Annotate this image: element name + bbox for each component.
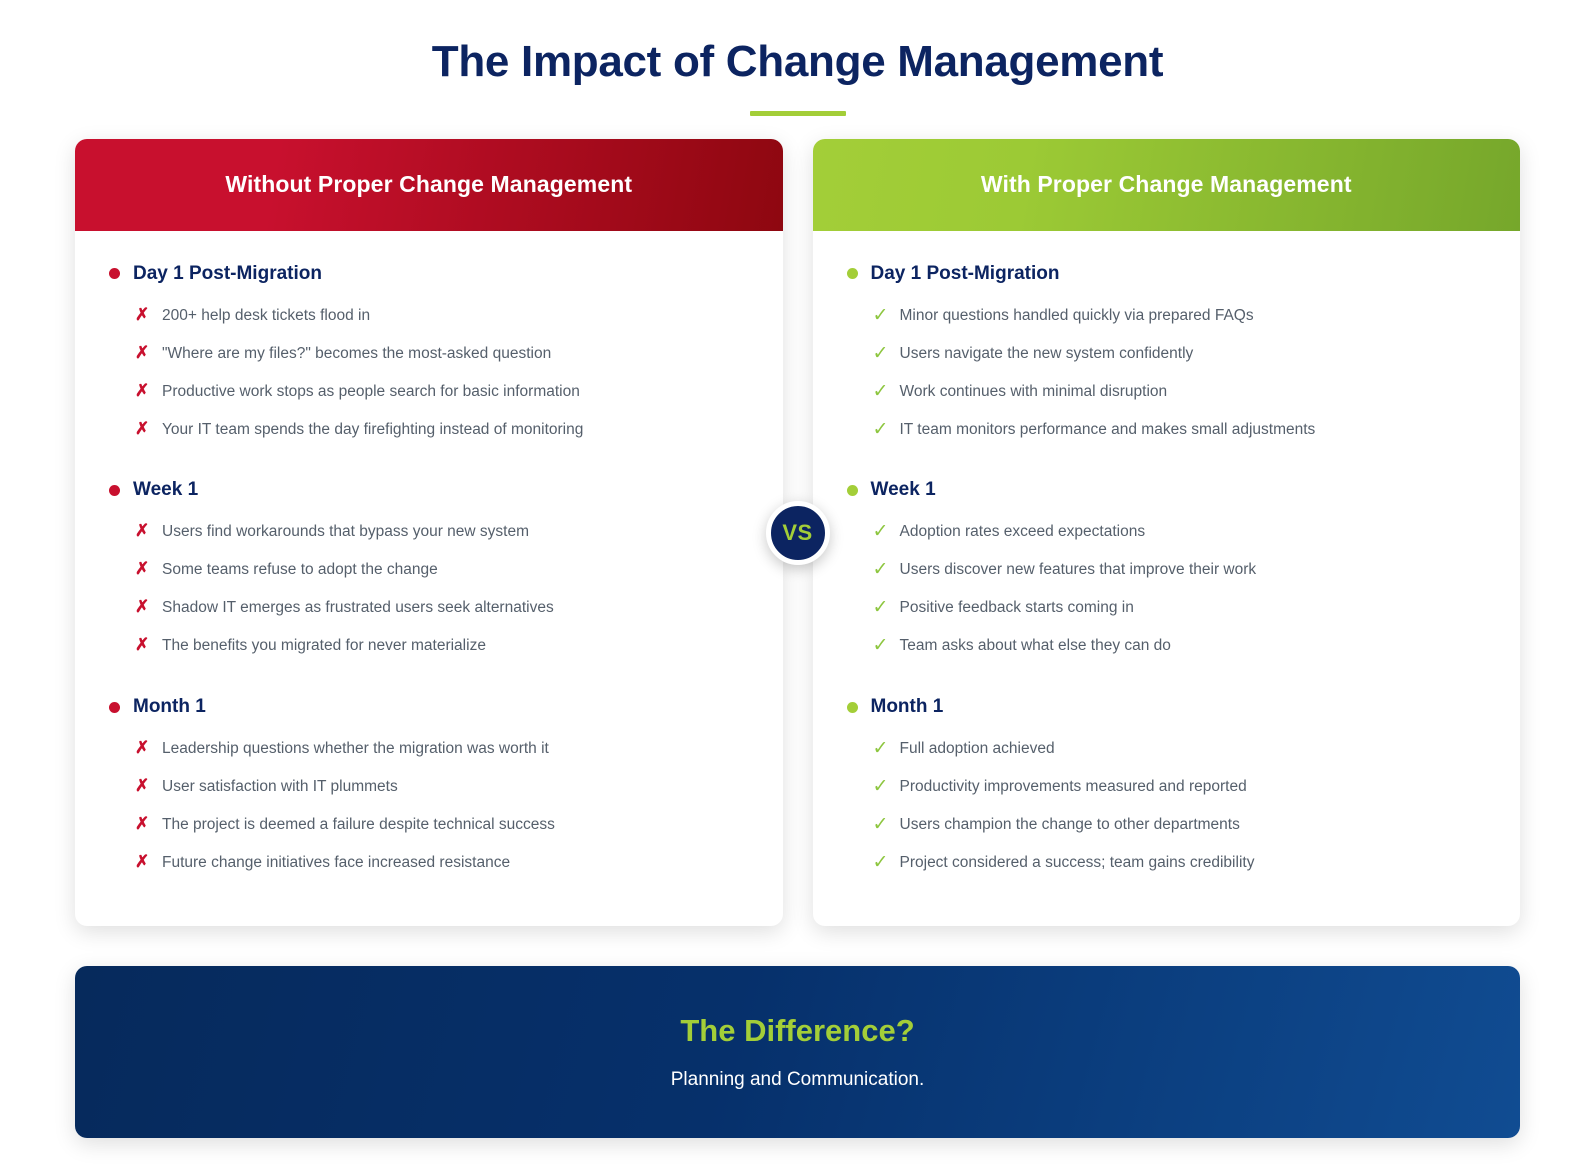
cross-icon: ✗	[135, 853, 149, 872]
check-icon: ✓	[873, 598, 887, 619]
bullet-icon	[109, 268, 120, 279]
section-title-row: Month 1	[109, 696, 749, 718]
card-with-change-management: With Proper Change Management Day 1 Post…	[813, 139, 1521, 926]
list-item-text: 200+ help desk tickets flood in	[162, 306, 370, 327]
section-title-label: Day 1 Post-Migration	[871, 263, 1060, 285]
list-item-text: Productive work stops as people search f…	[162, 382, 580, 403]
list-item-text: Work continues with minimal disruption	[900, 382, 1168, 403]
list-item: ✓ Users champion the change to other dep…	[873, 810, 1487, 848]
list-item: ✓ Users discover new features that impro…	[873, 555, 1487, 593]
section-day-1-without: Day 1 Post-Migration ✗ 200+ help desk ti…	[109, 263, 749, 453]
list-item: ✗ User satisfaction with IT plummets	[135, 772, 749, 810]
section-title-label: Month 1	[133, 696, 206, 718]
list-item: ✓ Team asks about what else they can do	[873, 631, 1487, 669]
vs-badge: VS	[766, 501, 830, 565]
list-item: ✓ Minor questions handled quickly via pr…	[873, 301, 1487, 339]
list-item: ✓ Users navigate the new system confiden…	[873, 339, 1487, 377]
list-item: ✗ Your IT team spends the day firefighti…	[135, 415, 749, 453]
item-list: ✗ Leadership questions whether the migra…	[109, 734, 749, 886]
cross-icon: ✗	[135, 739, 149, 758]
list-item: ✓ Productivity improvements measured and…	[873, 772, 1487, 810]
list-item-text: Users champion the change to other depar…	[900, 815, 1240, 836]
list-item-text: Productivity improvements measured and r…	[900, 777, 1247, 798]
section-title-label: Week 1	[133, 479, 198, 501]
list-item: ✗ Productive work stops as people search…	[135, 377, 749, 415]
cross-icon: ✗	[135, 382, 149, 401]
list-item-text: Project considered a success; team gains…	[900, 853, 1255, 874]
card-body-with: Day 1 Post-Migration ✓ Minor questions h…	[813, 231, 1521, 926]
list-item: ✗ "Where are my files?" becomes the most…	[135, 339, 749, 377]
check-icon: ✓	[873, 420, 887, 441]
card-header-with: With Proper Change Management	[813, 139, 1521, 231]
cross-icon: ✗	[135, 560, 149, 579]
bullet-icon	[109, 702, 120, 713]
list-item: ✓ IT team monitors performance and makes…	[873, 415, 1487, 453]
cross-icon: ✗	[135, 636, 149, 655]
cross-icon: ✗	[135, 598, 149, 617]
check-icon: ✓	[873, 739, 887, 760]
list-item: ✗ Users find workarounds that bypass you…	[135, 517, 749, 555]
list-item-text: Team asks about what else they can do	[900, 636, 1171, 657]
list-item: ✗ The project is deemed a failure despit…	[135, 810, 749, 848]
section-title-row: Day 1 Post-Migration	[109, 263, 749, 285]
check-icon: ✓	[873, 636, 887, 657]
item-list: ✓ Adoption rates exceed expectations ✓ U…	[847, 517, 1487, 669]
cross-icon: ✗	[135, 815, 149, 834]
banner-subtitle: Planning and Communication.	[671, 1069, 925, 1091]
check-icon: ✓	[873, 853, 887, 874]
section-title-row: Week 1	[847, 479, 1487, 501]
list-item-text: IT team monitors performance and makes s…	[900, 420, 1316, 441]
list-item: ✓ Work continues with minimal disruption	[873, 377, 1487, 415]
section-title-row: Month 1	[847, 696, 1487, 718]
list-item: ✗ Some teams refuse to adopt the change	[135, 555, 749, 593]
list-item: ✗ Future change initiatives face increas…	[135, 848, 749, 886]
list-item: ✓ Project considered a success; team gai…	[873, 848, 1487, 886]
list-item-text: Future change initiatives face increased…	[162, 853, 510, 874]
bullet-icon	[847, 702, 858, 713]
card-header-without: Without Proper Change Management	[75, 139, 783, 231]
list-item: ✗ 200+ help desk tickets flood in	[135, 301, 749, 339]
list-item-text: Minor questions handled quickly via prep…	[900, 306, 1254, 327]
list-item-text: Some teams refuse to adopt the change	[162, 560, 438, 581]
section-week-1-with: Week 1 ✓ Adoption rates exceed expectati…	[847, 479, 1487, 669]
list-item-text: Users find workarounds that bypass your …	[162, 522, 529, 543]
banner-title: The Difference?	[680, 1013, 914, 1049]
list-item-text: Positive feedback starts coming in	[900, 598, 1134, 619]
check-icon: ✓	[873, 560, 887, 581]
list-item-text: Users navigate the new system confidentl…	[900, 344, 1194, 365]
list-item: ✓ Positive feedback starts coming in	[873, 593, 1487, 631]
check-icon: ✓	[873, 382, 887, 403]
list-item: ✗ The benefits you migrated for never ma…	[135, 631, 749, 669]
item-list: ✓ Full adoption achieved ✓ Productivity …	[847, 734, 1487, 886]
page-title: The Impact of Change Management	[0, 0, 1595, 89]
check-icon: ✓	[873, 344, 887, 365]
section-week-1-without: Week 1 ✗ Users find workarounds that byp…	[109, 479, 749, 669]
bullet-icon	[847, 268, 858, 279]
list-item-text: Adoption rates exceed expectations	[900, 522, 1146, 543]
list-item-text: Leadership questions whether the migrati…	[162, 739, 549, 760]
list-item: ✓ Full adoption achieved	[873, 734, 1487, 772]
section-title-label: Week 1	[871, 479, 936, 501]
item-list: ✗ 200+ help desk tickets flood in ✗ "Whe…	[109, 301, 749, 453]
list-item-text: "Where are my files?" becomes the most-a…	[162, 344, 551, 365]
section-title-row: Day 1 Post-Migration	[847, 263, 1487, 285]
cross-icon: ✗	[135, 777, 149, 796]
cross-icon: ✗	[135, 344, 149, 363]
list-item-text: Users discover new features that improve…	[900, 560, 1257, 581]
comparison-cards-container: Without Proper Change Management Day 1 P…	[0, 116, 1595, 926]
section-title-row: Week 1	[109, 479, 749, 501]
change-management-comparison-page: The Impact of Change Management Without …	[0, 0, 1595, 1173]
check-icon: ✓	[873, 777, 887, 798]
list-item: ✗ Leadership questions whether the migra…	[135, 734, 749, 772]
section-title-label: Month 1	[871, 696, 944, 718]
cross-icon: ✗	[135, 522, 149, 541]
check-icon: ✓	[873, 306, 887, 327]
item-list: ✗ Users find workarounds that bypass you…	[109, 517, 749, 669]
list-item-text: The project is deemed a failure despite …	[162, 815, 555, 836]
list-item-text: Full adoption achieved	[900, 739, 1055, 760]
section-month-1-with: Month 1 ✓ Full adoption achieved ✓ Produ…	[847, 696, 1487, 886]
cross-icon: ✗	[135, 306, 149, 325]
check-icon: ✓	[873, 815, 887, 836]
cross-icon: ✗	[135, 420, 149, 439]
list-item-text: Shadow IT emerges as frustrated users se…	[162, 598, 554, 619]
list-item: ✗ Shadow IT emerges as frustrated users …	[135, 593, 749, 631]
vs-badge-label: VS	[782, 520, 812, 546]
card-body-without: Day 1 Post-Migration ✗ 200+ help desk ti…	[75, 231, 783, 926]
bullet-icon	[847, 485, 858, 496]
list-item-text: User satisfaction with IT plummets	[162, 777, 398, 798]
list-item: ✓ Adoption rates exceed expectations	[873, 517, 1487, 555]
section-title-label: Day 1 Post-Migration	[133, 263, 322, 285]
bullet-icon	[109, 485, 120, 496]
card-without-change-management: Without Proper Change Management Day 1 P…	[75, 139, 783, 926]
list-item-text: Your IT team spends the day firefighting…	[162, 420, 583, 441]
check-icon: ✓	[873, 522, 887, 543]
list-item-text: The benefits you migrated for never mate…	[162, 636, 486, 657]
difference-banner: The Difference? Planning and Communicati…	[75, 966, 1520, 1138]
section-month-1-without: Month 1 ✗ Leadership questions whether t…	[109, 696, 749, 886]
item-list: ✓ Minor questions handled quickly via pr…	[847, 301, 1487, 453]
section-day-1-with: Day 1 Post-Migration ✓ Minor questions h…	[847, 263, 1487, 453]
